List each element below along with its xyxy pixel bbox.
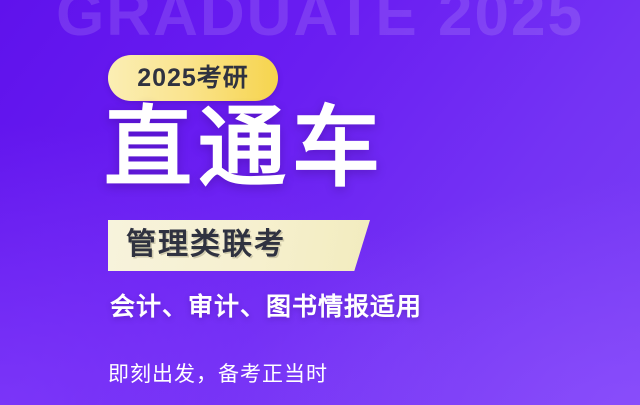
year-badge: 2025考研	[108, 55, 278, 101]
year-badge-label: 2025考研	[137, 66, 249, 91]
poster-main-title: 直通车	[104, 104, 386, 192]
graduate-promo-poster: GRADUATE 2025 2025考研 直通车 管理类联考 会计、审计、图书情…	[0, 0, 640, 405]
applicable-majors-text: 会计、审计、图书情报适用	[110, 291, 422, 323]
watermark-headline: GRADUATE 2025	[0, 0, 640, 46]
exam-category-ribbon-label: 管理类联考	[126, 226, 286, 264]
poster-tagline: 即刻出发，备考正当时	[108, 361, 328, 389]
